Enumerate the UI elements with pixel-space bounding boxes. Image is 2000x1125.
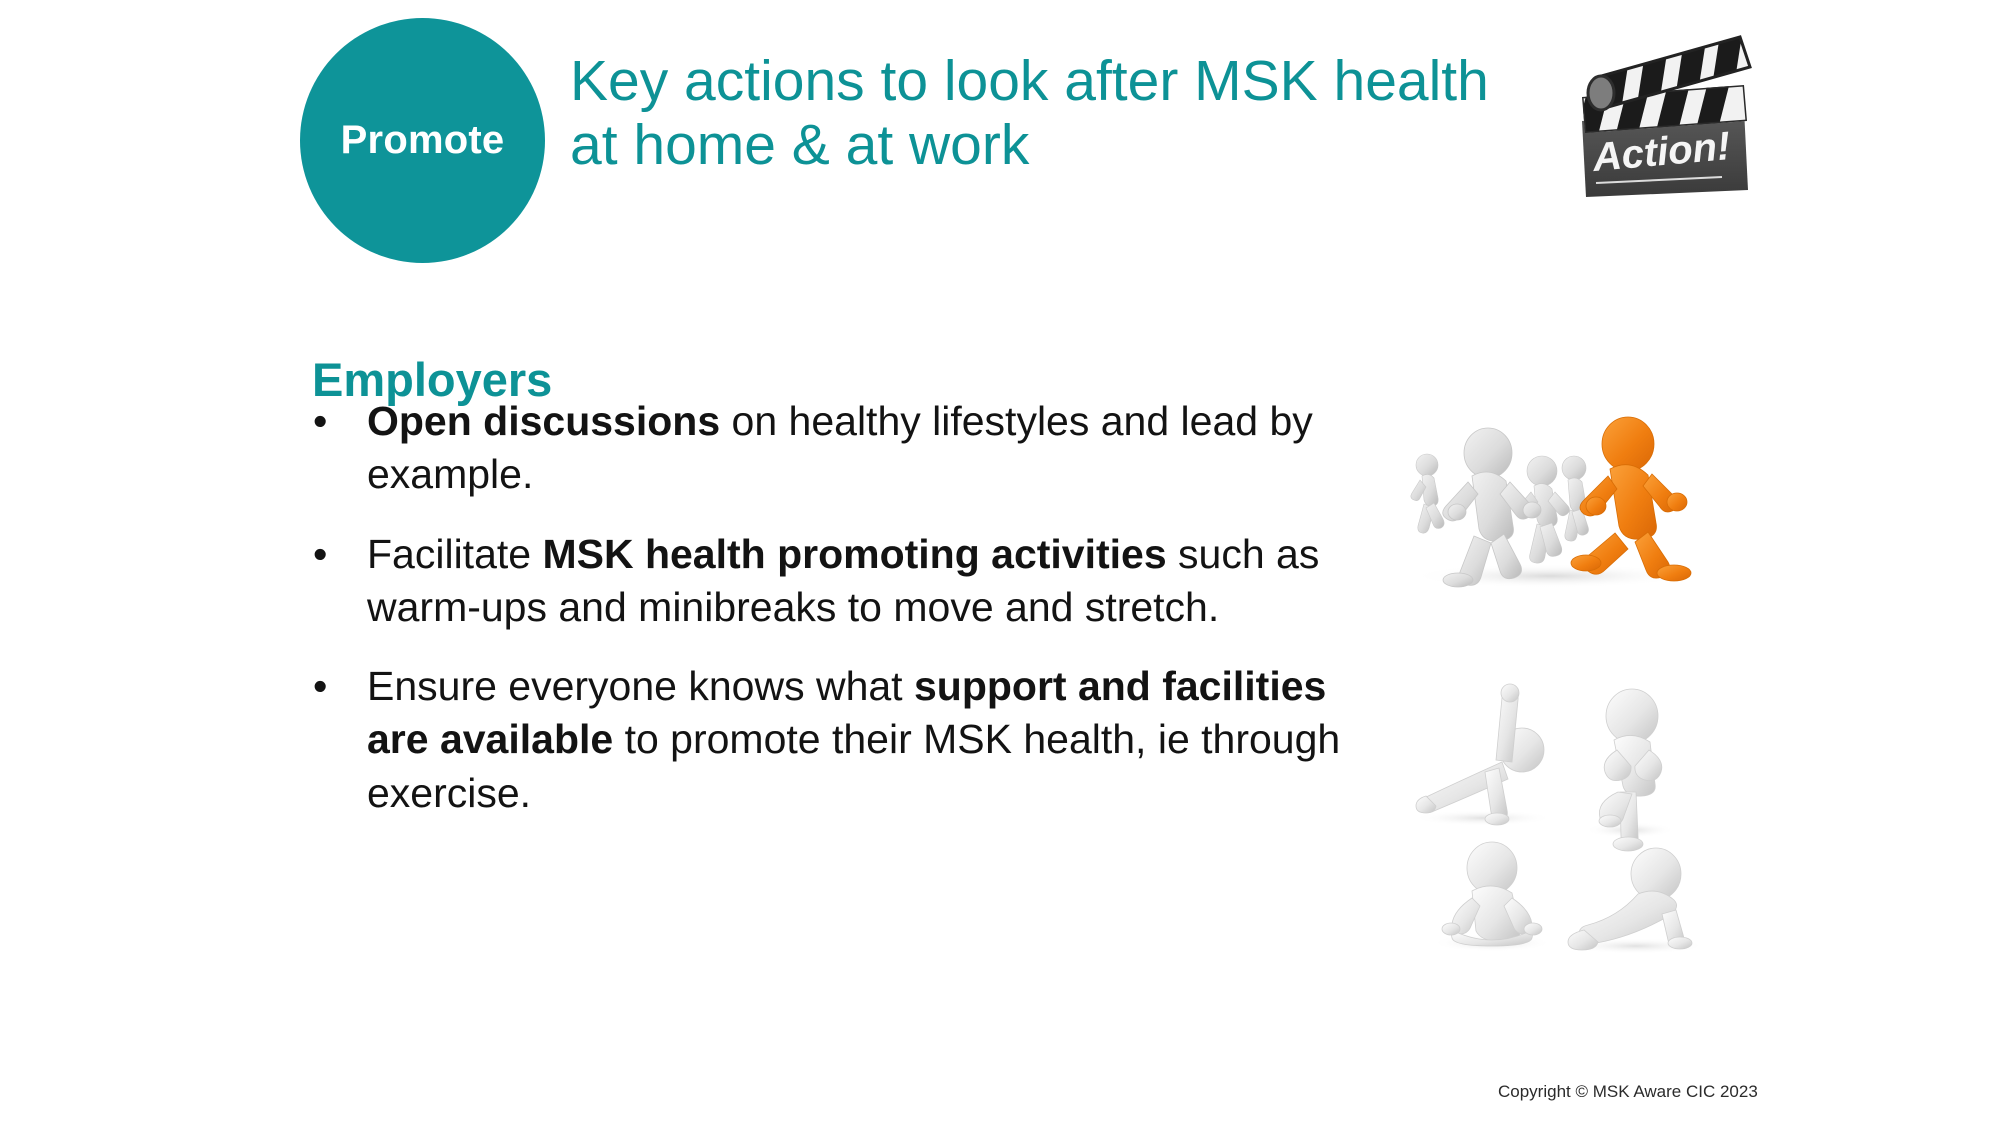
list-item: • Facilitate MSK health promoting activi… — [305, 528, 1395, 635]
copyright-footer: Copyright © MSK Aware CIC 2023 — [1498, 1082, 1758, 1102]
list-item-text-regular: Ensure everyone knows what — [367, 663, 914, 709]
clapperboard-action-icon: Action! — [1572, 25, 1762, 200]
bullet-marker: • — [313, 395, 327, 448]
promote-badge: Promote — [300, 18, 545, 263]
list-item: • Open discussions on healthy lifestyles… — [305, 395, 1395, 502]
page-title-line-1: Key actions to look after MSK health — [570, 50, 1580, 114]
yoga-poses-image — [1398, 678, 1720, 960]
bullet-marker: • — [313, 528, 327, 581]
slide-header: Promote Key actions to look after MSK he… — [0, 0, 2000, 260]
yoga-pose-tree — [1585, 689, 1675, 851]
list-item-text: Facilitate MSK health promoting activiti… — [367, 531, 1319, 630]
bullet-list: • Open discussions on healthy lifestyles… — [305, 395, 1395, 846]
promote-badge-label: Promote — [341, 118, 505, 163]
list-item-text-regular: Facilitate — [367, 531, 542, 577]
yoga-pose-side-plank — [1413, 684, 1553, 826]
yoga-pose-cobra — [1566, 848, 1706, 954]
bullet-marker: • — [313, 660, 327, 713]
list-item-text: Open discussions on healthy lifestyles a… — [367, 398, 1313, 497]
running-figures-image — [1400, 408, 1702, 588]
yoga-pose-lotus — [1432, 842, 1552, 952]
page-title-line-2: at home & at work — [570, 114, 1580, 178]
list-item-text: Ensure everyone knows what support and f… — [367, 663, 1340, 816]
list-item: • Ensure everyone knows what support and… — [305, 660, 1395, 820]
list-item-text-bold: MSK health promoting activities — [542, 531, 1166, 577]
page-title: Key actions to look after MSK health at … — [570, 50, 1580, 178]
list-item-text-bold: Open discussions — [367, 398, 720, 444]
